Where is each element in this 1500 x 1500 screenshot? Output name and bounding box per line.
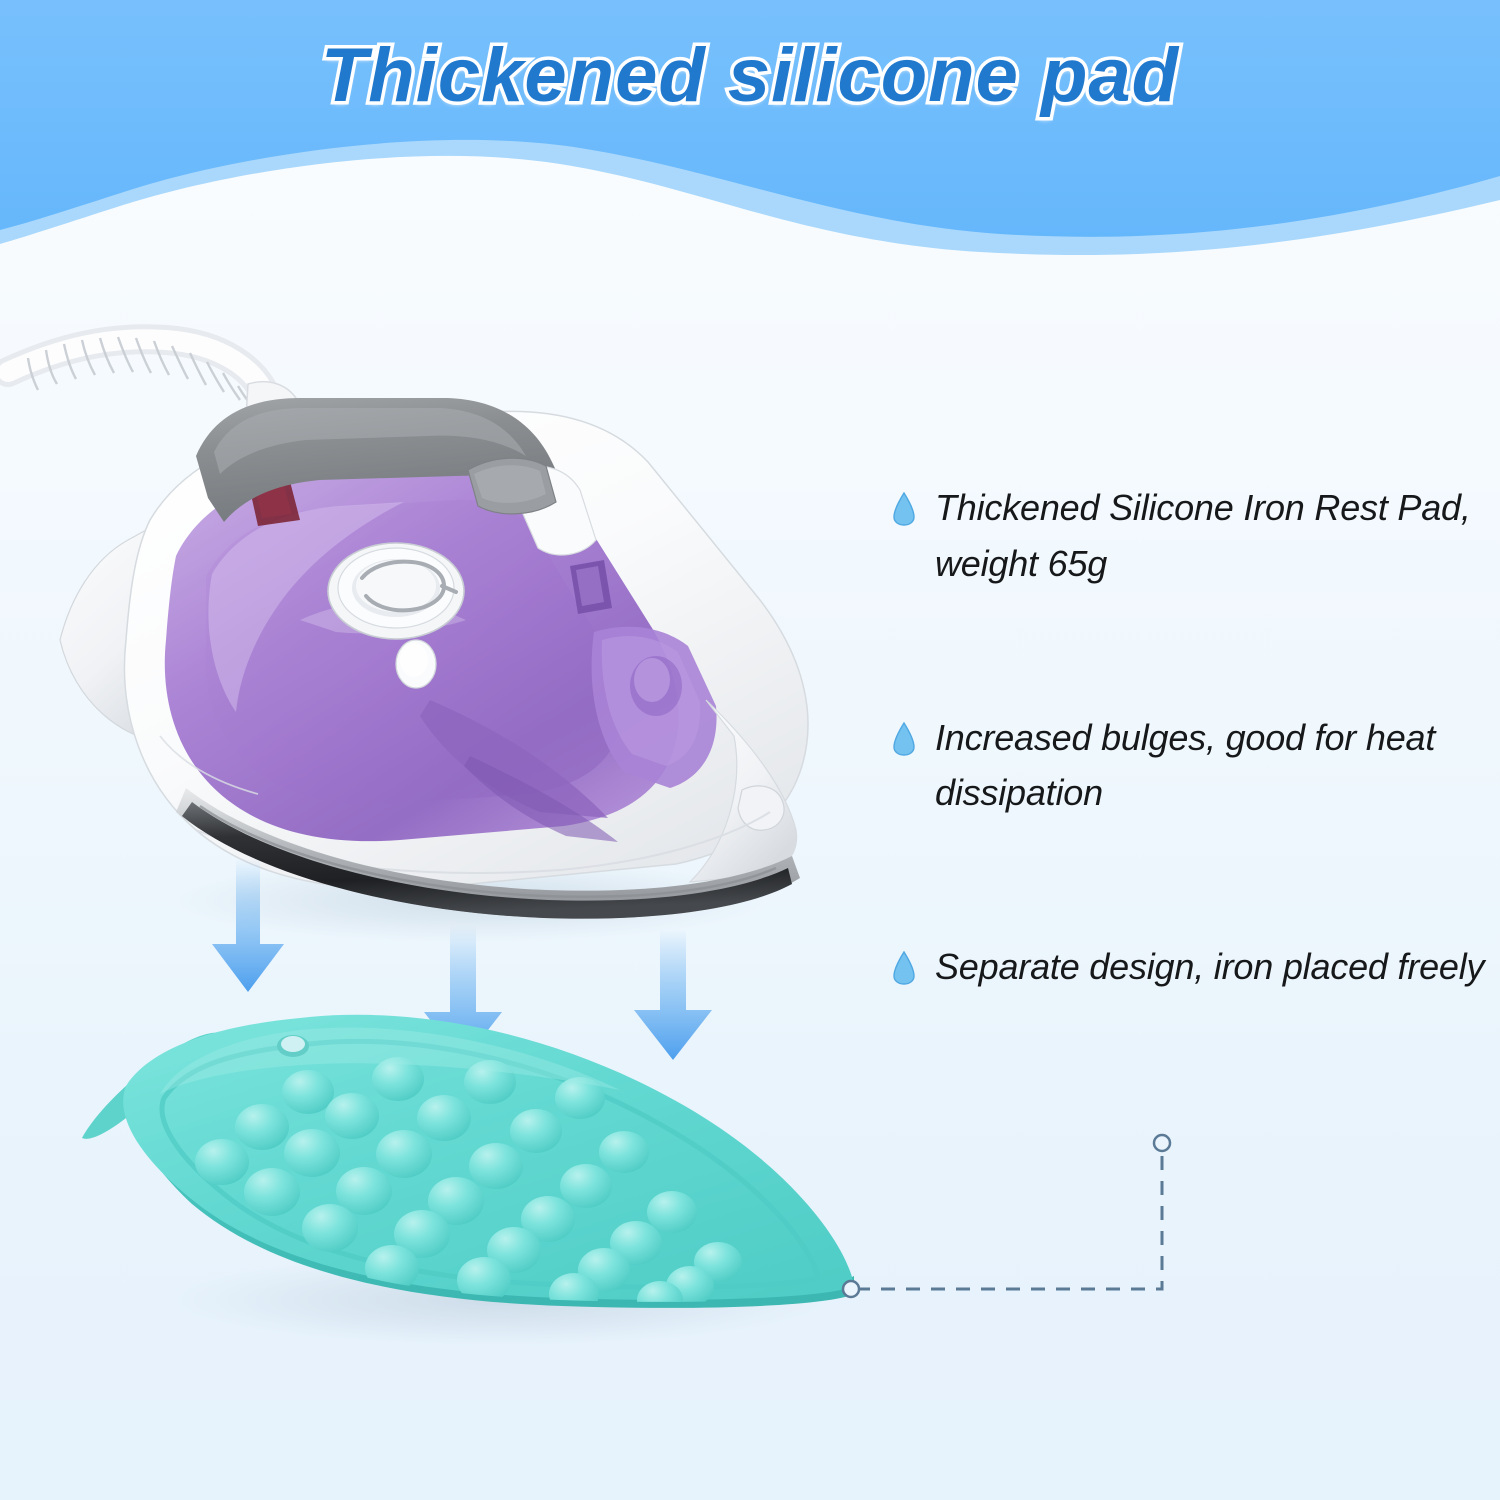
feature-item: Increased bulges, good for heat dissipat… [893, 710, 1493, 822]
feature-text: Thickened Silicone Iron Rest Pad, weight… [935, 480, 1493, 592]
guide-endpoint-marker [1154, 1135, 1170, 1151]
silicone-iron-rest-pad [82, 1015, 854, 1346]
infographic-page: Thickened silicone pad [0, 0, 1500, 1500]
iron-soleplate-bullet-icon [893, 492, 915, 526]
feature-text: Increased bulges, good for heat dissipat… [935, 710, 1493, 822]
feature-item: Thickened Silicone Iron Rest Pad, weight… [893, 480, 1493, 592]
guide-endpoint-marker [843, 1281, 859, 1297]
feature-item: Separate design, iron placed freely [893, 939, 1493, 995]
iron-rear-knob[interactable] [738, 786, 784, 830]
steam-iron [8, 337, 808, 942]
arrow-down-icon [634, 930, 712, 1060]
iron-soleplate-bullet-icon [893, 951, 915, 985]
feature-list: Thickened Silicone Iron Rest Pad, weight… [893, 480, 1493, 1113]
iron-temperature-dial[interactable] [328, 543, 464, 639]
feature-text: Separate design, iron placed freely [935, 939, 1484, 995]
dimension-guide [843, 1135, 1170, 1297]
iron-soleplate-bullet-icon [893, 722, 915, 756]
